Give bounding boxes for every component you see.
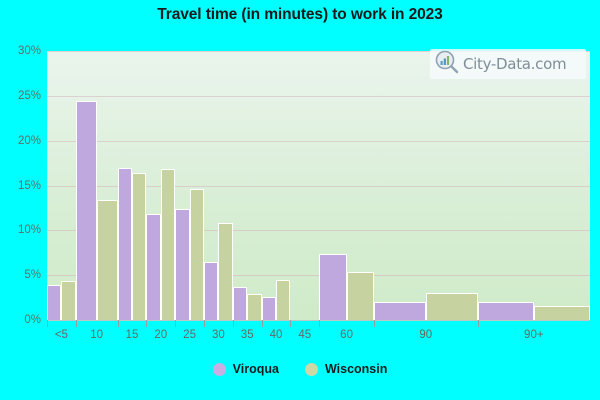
bar-viroqua-<5[interactable] [47,285,61,320]
bar-wisconsin-30[interactable] [218,223,232,320]
bar-wisconsin-40[interactable] [276,280,290,320]
x-axis-tick-label: 35 [241,329,254,341]
x-axis-tick-label: 90+ [524,329,544,341]
x-axis-tick-mark [319,320,320,327]
legend-label: Viroqua [233,362,279,376]
x-axis-tick-label: 60 [340,329,353,341]
y-axis-tick-label: 30% [0,46,41,58]
bar-wisconsin-90[interactable] [426,293,478,320]
y-axis-tick-label: 20% [0,136,41,148]
bar-wisconsin-20[interactable] [161,169,175,320]
watermark-text: City-Data.com [463,55,566,73]
x-axis: <51015202530354045609090+ [47,320,590,354]
x-axis-tick-label: 45 [298,329,311,341]
bar-viroqua-10[interactable] [76,101,97,320]
x-axis-tick-mark [118,320,119,327]
legend-swatch-icon [213,363,226,376]
x-axis-tick-label: 15 [126,329,139,341]
bar-wisconsin-10[interactable] [97,200,118,320]
bar-viroqua-90+[interactable] [478,302,534,320]
x-axis-tick-label: <5 [55,329,68,341]
x-axis-tick-mark [262,320,263,327]
y-axis-tick-label: 0% [0,315,41,327]
x-axis-tick-label: 10 [90,329,103,341]
bar-wisconsin-60[interactable] [347,272,374,320]
watermark: City-Data.com [430,49,586,79]
bar-wisconsin-15[interactable] [132,173,146,320]
magnifier-bar-chart-icon [434,49,460,80]
bar-viroqua-60[interactable] [319,254,346,320]
bar-viroqua-30[interactable] [204,262,218,320]
bar-viroqua-20[interactable] [146,214,160,320]
x-axis-tick-mark [374,320,375,327]
legend-label: Wisconsin [325,362,387,376]
legend-swatch-icon [305,363,318,376]
bars-layer [47,51,590,320]
bar-viroqua-25[interactable] [175,209,189,320]
bar-wisconsin-25[interactable] [190,189,204,320]
bar-viroqua-15[interactable] [118,168,132,320]
y-axis-tick-label: 15% [0,181,41,193]
x-axis-tick-label: 90 [419,329,432,341]
y-axis-tick-label: 25% [0,91,41,103]
x-axis-tick-mark [175,320,176,327]
x-axis-tick-label: 20 [154,329,167,341]
x-axis-tick-mark [290,320,291,327]
bar-wisconsin-35[interactable] [247,294,261,320]
legend-item-viroqua[interactable]: Viroqua [213,362,279,376]
plot-area [47,51,590,320]
bar-viroqua-35[interactable] [233,287,247,320]
bar-wisconsin-<5[interactable] [61,281,75,320]
chart-legend: Viroqua Wisconsin [0,362,600,376]
x-axis-tick-mark [76,320,77,327]
x-axis-tick-mark [233,320,234,327]
chart-title: Travel time (in minutes) to work in 2023 [0,6,600,24]
legend-item-wisconsin[interactable]: Wisconsin [305,362,387,376]
x-axis-tick-label: 40 [270,329,283,341]
bar-viroqua-90[interactable] [374,302,426,320]
x-axis-tick-label: 30 [212,329,225,341]
x-axis-tick-mark [146,320,147,327]
bar-wisconsin-90+[interactable] [534,306,590,320]
x-axis-tick-mark [478,320,479,327]
y-axis-tick-label: 10% [0,225,41,237]
x-axis-tick-mark [204,320,205,327]
bar-viroqua-40[interactable] [262,297,276,320]
y-axis-tick-label: 5% [0,270,41,282]
x-axis-tick-mark [47,320,48,327]
x-axis-tick-label: 25 [183,329,196,341]
